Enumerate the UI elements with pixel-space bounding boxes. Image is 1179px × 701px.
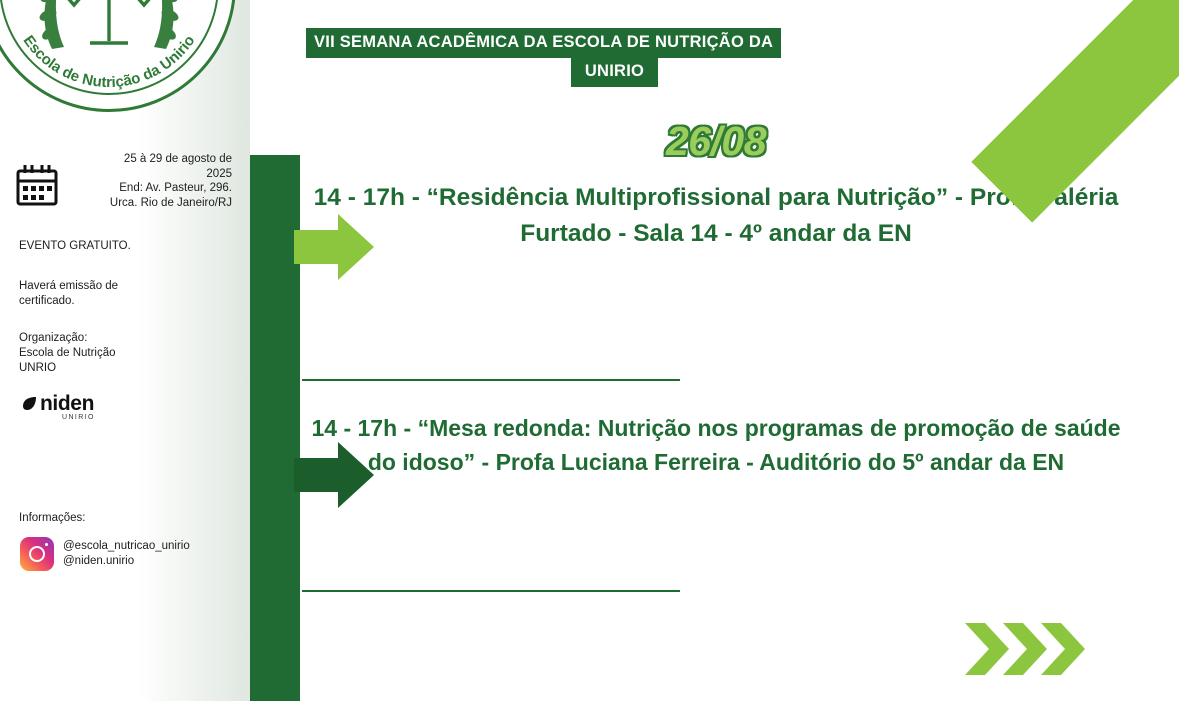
address-line: End: Av. Pasteur, 296. — [66, 181, 232, 196]
niden-logo: niden — [22, 393, 94, 414]
date-line: 2025 — [66, 167, 232, 182]
institution-seal: Escola de Nutrição da Unirio — [0, 0, 236, 112]
event-title-line-1: VII SEMANA ACADÊMICA DA ESCOLA DE NUTRIÇ… — [306, 28, 781, 58]
triple-chevron-right-icon — [963, 619, 1087, 679]
info-label: Informações: — [19, 511, 229, 526]
scales-laurel-icon — [34, 0, 184, 55]
organization-line: Escola de Nutrição — [19, 346, 229, 361]
instagram-icon[interactable] — [20, 537, 54, 571]
session-1-text: 14 - 17h - “Residência Multiprofissional… — [306, 180, 1126, 252]
corner-ribbon: FEIRA — [949, 0, 1179, 204]
schedule-date: 26/08 — [306, 118, 1126, 165]
session-divider — [302, 379, 680, 381]
event-title-line-2: UNIRIO — [571, 58, 658, 87]
sidebar: Escola de Nutrição da Unirio — [0, 0, 250, 701]
address-line: Urca. Rio de Janeiro/RJ — [66, 196, 232, 211]
session-2-text: 14 - 17h - “Mesa redonda: Nutrição nos p… — [306, 412, 1126, 480]
organization-line: UNRIO — [19, 361, 229, 376]
instagram-block[interactable]: @escola_nutricao_unirio @niden.unirio — [20, 537, 190, 571]
banner-row-1: VII SEMANA ACADÊMICA DA ESCOLA DE NUTRIÇ… — [306, 28, 923, 58]
instagram-handles: @escola_nutricao_unirio @niden.unirio — [63, 539, 190, 570]
banner-row-2: UNIRIO — [306, 58, 923, 87]
free-event-note: EVENTO GRATUITO. — [19, 239, 229, 254]
timeline-bar — [250, 155, 300, 701]
niden-subtitle: UNIRIO — [62, 414, 95, 421]
event-date-text: 25 à 29 de agosto de 2025 End: Av. Paste… — [66, 152, 232, 211]
organization-line: Organização: — [19, 331, 229, 346]
calendar-icon — [16, 164, 58, 206]
session-divider — [302, 590, 680, 592]
certificate-note: Haverá emissão de certificado. — [19, 279, 229, 309]
certificate-line: certificado. — [19, 294, 229, 309]
instagram-lens — [29, 546, 45, 562]
organization-note: Organização: Escola de Nutrição UNRIO — [19, 331, 229, 377]
instagram-dot — [45, 543, 48, 546]
instagram-handle[interactable]: @niden.unirio — [63, 554, 190, 569]
event-title-banner: VII SEMANA ACADÊMICA DA ESCOLA DE NUTRIÇ… — [306, 28, 923, 87]
certificate-line: Haverá emissão de — [19, 279, 229, 294]
event-date-block: 25 à 29 de agosto de 2025 End: Av. Paste… — [16, 152, 232, 211]
instagram-handle[interactable]: @escola_nutricao_unirio — [63, 539, 190, 554]
leaf-icon — [22, 396, 37, 411]
date-line: 25 à 29 de agosto de — [66, 152, 232, 167]
niden-wordmark: niden — [40, 393, 94, 414]
